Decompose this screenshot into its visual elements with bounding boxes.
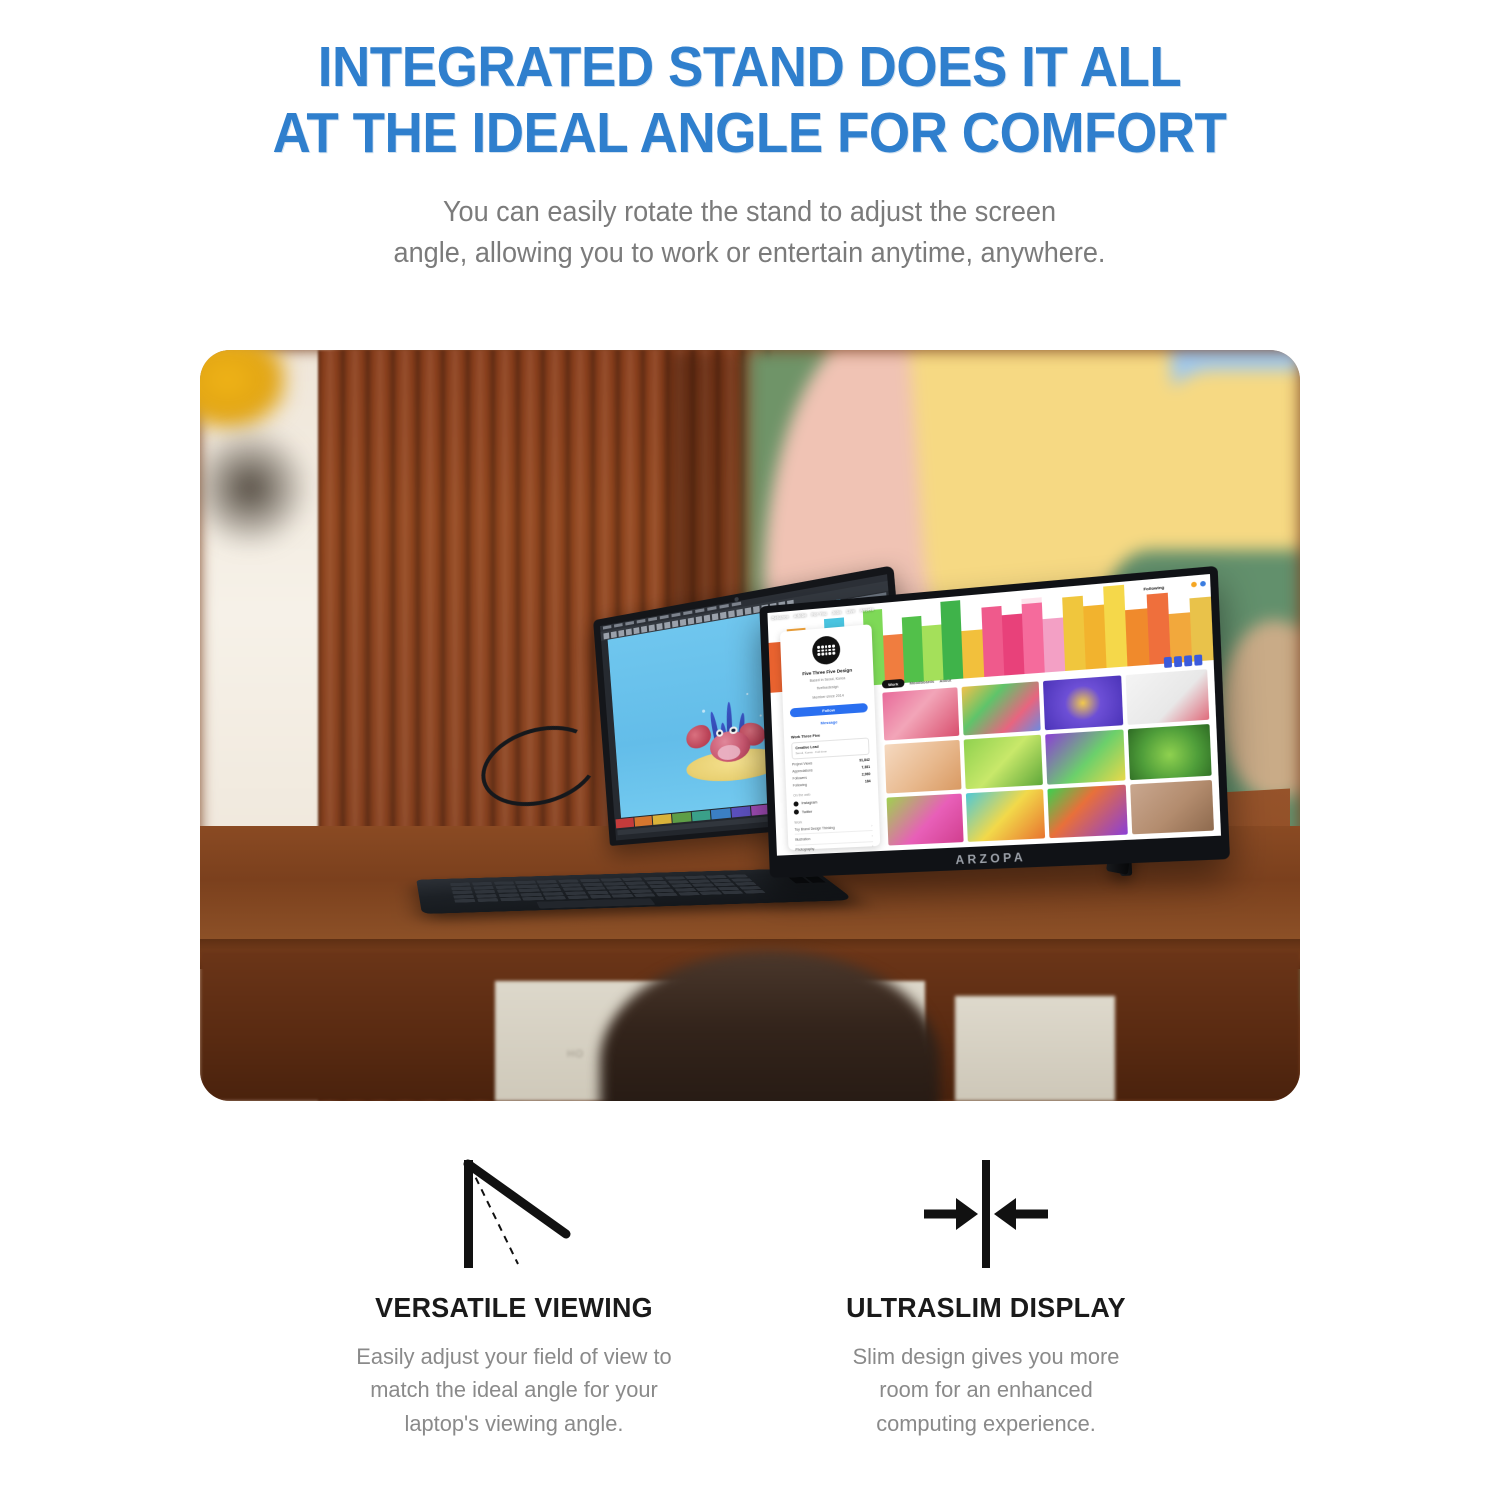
nav-item-3[interactable]: Jobs xyxy=(832,610,842,616)
page-title: INTEGRATED STAND DOES IT ALL AT THE IDEA… xyxy=(52,34,1446,166)
feature-desc-line: Slim design gives you more xyxy=(811,1340,1160,1373)
project-gallery[interactable] xyxy=(882,669,1214,845)
bubble xyxy=(759,714,761,716)
feature-list: VERSATILE VIEWING Easily adjust your fie… xyxy=(0,1150,1499,1440)
subtitle-line-1: You can easily rotate the stand to adjus… xyxy=(443,196,1056,228)
slim-thickness-svg xyxy=(916,1154,1056,1274)
cabinet-drawer-right xyxy=(955,996,1115,1101)
bubble xyxy=(746,692,749,695)
gallery-item[interactable] xyxy=(884,740,961,793)
message-button[interactable]: Message xyxy=(790,715,868,728)
feature-desc-line: laptop's viewing angle. xyxy=(339,1407,688,1440)
list-item[interactable]: Photography › xyxy=(795,842,873,856)
tab-moodboards[interactable]: Moodboards xyxy=(909,678,934,685)
list-item-label: Photography xyxy=(795,847,814,852)
instagram-icon xyxy=(793,801,798,806)
feature-desc-line: computing experience. xyxy=(811,1407,1160,1440)
gallery-item[interactable] xyxy=(966,789,1045,842)
chevron-right-icon: › xyxy=(871,824,872,828)
portfolio-website: Behance Adobe For You Jobs Live Assets F… xyxy=(767,574,1221,856)
headline-line-2: AT THE IDEAL ANGLE FOR COMFORT xyxy=(52,100,1446,166)
header: INTEGRATED STAND DOES IT ALL AT THE IDEA… xyxy=(0,0,1499,273)
stat-label: Followers xyxy=(793,776,807,781)
gallery-item[interactable] xyxy=(961,681,1040,735)
apps-icon[interactable] xyxy=(1200,580,1206,586)
portable-monitor: Behance Adobe For You Jobs Live Assets F… xyxy=(770,606,1240,906)
product-feature-page: INTEGRATED STAND DOES IT ALL AT THE IDEA… xyxy=(0,0,1499,1499)
stat-value: 7,381 xyxy=(861,765,870,770)
gallery-item[interactable] xyxy=(887,793,964,845)
social-link-label: Instagram xyxy=(801,801,817,806)
chevron-right-icon: › xyxy=(872,834,873,838)
feature-description: Easily adjust your field of view to matc… xyxy=(339,1340,688,1440)
gallery-item[interactable] xyxy=(1128,724,1212,779)
feature-title: ULTRASLIM DISPLAY xyxy=(813,1292,1159,1324)
connection-cable xyxy=(472,713,608,819)
feature-desc-line: match the ideal angle for your xyxy=(339,1373,688,1406)
feature-desc-line: Easily adjust your field of view to xyxy=(339,1340,688,1373)
social-link[interactable]: Twitter xyxy=(794,806,872,815)
feature-desc-line: room for an enhanced xyxy=(811,1373,1160,1406)
nav-item-4[interactable]: Live xyxy=(846,608,855,614)
product-photo: HO xyxy=(200,350,1300,1101)
viewing-angle-icon xyxy=(334,1150,694,1278)
subtitle-line-2: angle, allowing you to work or entertain… xyxy=(37,233,1461,273)
collaborator-avatars[interactable] xyxy=(1164,654,1203,668)
monitor-body: Behance Adobe For You Jobs Live Assets F… xyxy=(759,566,1230,878)
avatar[interactable] xyxy=(1191,581,1197,587)
cabinet-label: HO xyxy=(567,1049,584,1060)
feature-title: VERSATILE VIEWING xyxy=(341,1292,687,1324)
stat-label: Project Views xyxy=(792,761,812,766)
list-item-label: Toy Brand Design Thinking xyxy=(795,826,835,832)
gallery-item[interactable] xyxy=(1042,675,1123,730)
monitor-screen: Behance Adobe For You Jobs Live Assets F… xyxy=(767,574,1221,856)
message-icon[interactable] xyxy=(1182,582,1188,588)
background-yellow-blur xyxy=(200,350,288,430)
chevron-right-icon: › xyxy=(872,855,873,856)
twitter-icon xyxy=(794,810,799,815)
profile-logo-icon xyxy=(812,635,841,665)
list-item-label: Illustration xyxy=(795,837,810,842)
headline-line-1: INTEGRATED STAND DOES IT ALL xyxy=(318,35,1182,99)
laptop-trackpad xyxy=(537,898,656,908)
gallery-item[interactable] xyxy=(1126,669,1209,725)
social-link[interactable]: Instagram xyxy=(793,797,871,806)
stat-value: 184 xyxy=(865,779,871,783)
feature-description: Slim design gives you more room for an e… xyxy=(811,1340,1160,1440)
social-link-label: Twitter xyxy=(802,809,813,814)
bubble xyxy=(702,709,705,713)
viewing-angle-svg xyxy=(444,1154,584,1274)
stat-label: Appreciations xyxy=(792,769,812,774)
feature-versatile-viewing: VERSATILE VIEWING Easily adjust your fie… xyxy=(334,1150,694,1440)
stat-value: 2,960 xyxy=(862,772,871,777)
background-dark-blur xyxy=(200,428,310,548)
bell-icon[interactable] xyxy=(1173,583,1179,589)
tab-about[interactable]: About xyxy=(939,677,951,683)
page-subtitle: You can easily rotate the stand to adjus… xyxy=(37,192,1461,273)
gallery-item[interactable] xyxy=(963,735,1042,789)
profile-sidebar: Five Three Five Design Based in Seoul, K… xyxy=(780,624,880,850)
links-label: On the web xyxy=(793,789,871,797)
profile-role-card[interactable]: Creative Lead Seoul, Korea · Full-time xyxy=(791,738,869,760)
stat-value: 91,842 xyxy=(859,758,870,763)
gallery-item[interactable] xyxy=(1130,780,1214,835)
stat-label: Following xyxy=(793,783,807,788)
feature-ultraslim-display: ULTRASLIM DISPLAY Slim design gives you … xyxy=(806,1150,1166,1440)
gallery-item[interactable] xyxy=(882,687,959,741)
gallery-item[interactable] xyxy=(1047,784,1128,838)
photo-scene: HO xyxy=(200,350,1300,1101)
gallery-item[interactable] xyxy=(1045,730,1126,785)
tab-work[interactable]: Work xyxy=(882,679,905,689)
stat-row: Following 184 xyxy=(793,779,871,787)
slim-thickness-icon xyxy=(806,1150,1166,1278)
laptop-keyboard xyxy=(450,874,766,902)
chevron-right-icon: › xyxy=(872,844,873,848)
